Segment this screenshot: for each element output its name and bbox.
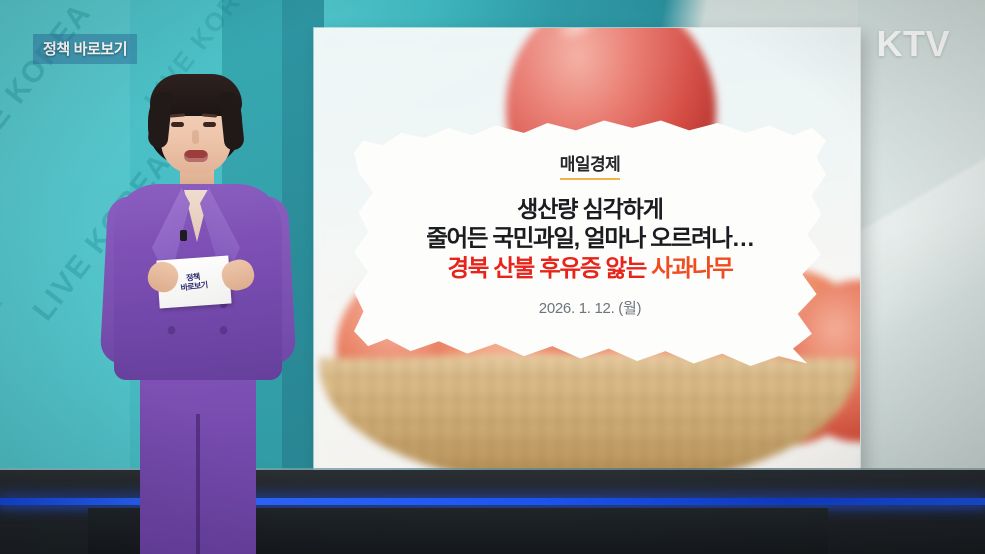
anchor-eye-left: [171, 122, 184, 127]
headline-line-3: 경북 산불 후유증 앓는 사과나무: [380, 255, 800, 282]
anchor-eye-right: [203, 122, 216, 127]
anchor-jacket-button: [220, 326, 227, 333]
backdrop-right-wall: [858, 0, 985, 500]
headline-line-3-part1: 경북 산불 후유증 앓는: [447, 255, 651, 281]
news-headline-card: 매일경제 생산량 심각하게 줄어든 국민과일, 얼마나 오르려나… 경북 산불 …: [354, 118, 826, 366]
program-badge: 정책 바로보기: [33, 34, 137, 64]
anchor-jacket-button: [168, 326, 175, 333]
headline-line-3-part2: 사과나무: [651, 255, 732, 281]
lapel-microphone-icon: [180, 230, 187, 241]
channel-logo: KTV: [877, 23, 951, 65]
anchor-trouser-seam: [196, 414, 200, 554]
anchor-mouth: [184, 150, 208, 162]
news-anchor: 정책 바로보기: [96, 62, 296, 548]
studio-display-panel: 매일경제 생산량 심각하게 줄어든 국민과일, 얼마나 오르려나… 경북 산불 …: [314, 28, 860, 503]
headline-line-1: 생산량 심각하게: [380, 196, 800, 223]
headline-line-2: 줄어든 국민과일, 얼마나 오르려나…: [380, 225, 800, 252]
anchor-nose: [192, 130, 199, 144]
news-date: 2026. 1. 12. (월): [380, 297, 800, 318]
broadcast-screenshot: LIVE KOREA LIVE KOREA LIVE KOREA LIVE KO…: [0, 0, 985, 554]
news-card-content: 매일경제 생산량 심각하게 줄어든 국민과일, 얼마나 오르려나… 경북 산불 …: [354, 118, 826, 366]
held-card-line-2: 바로보기: [181, 280, 209, 292]
news-source-label: 매일경제: [560, 150, 621, 180]
anchor-held-card-text: 정책 바로보기: [179, 271, 208, 293]
